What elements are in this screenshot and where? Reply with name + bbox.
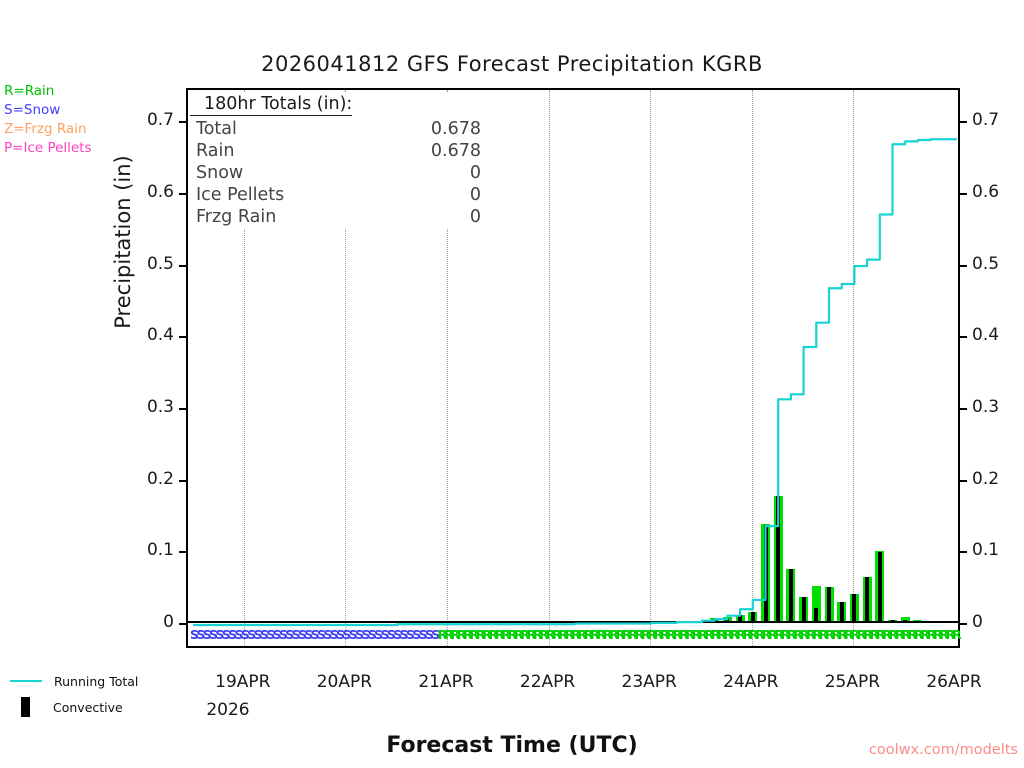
- x-axis-year: 2026: [183, 700, 273, 720]
- y-tick-label-right: 0.3: [972, 397, 1022, 417]
- y-tick-label: 0.6: [130, 182, 174, 202]
- totals-row: Frzg Rain0: [190, 206, 520, 228]
- precip-type-key: R=Rain S=Snow Z=Frzg Rain P=Ice Pellets: [4, 82, 92, 158]
- y-tick-label: 0.1: [130, 540, 174, 560]
- totals-row-name: Ice Pellets: [196, 184, 361, 206]
- y-tick-label-right: 0.7: [972, 110, 1022, 130]
- y-tick-mark-right: [960, 121, 967, 123]
- key-ice-pellets: P=Ice Pellets: [4, 139, 92, 158]
- convective-swatch-icon: [21, 697, 30, 717]
- y-tick-mark: [179, 336, 186, 338]
- y-tick-mark-right: [960, 480, 967, 482]
- key-snow: S=Snow: [4, 101, 92, 120]
- totals-row-value: 0: [361, 162, 481, 184]
- y-tick-mark-right: [960, 193, 967, 195]
- legend-running-total-label: Running Total: [54, 674, 138, 689]
- y-tick-label-right: 0.1: [972, 540, 1022, 560]
- y-tick-label-right: 0: [972, 612, 1022, 632]
- totals-row: Rain0.678: [190, 140, 520, 162]
- watermark: coolwx.com/modelts: [0, 742, 1018, 758]
- totals-row: Snow0: [190, 162, 520, 184]
- y-tick-label: 0.2: [130, 469, 174, 489]
- totals-row-name: Frzg Rain: [196, 206, 361, 228]
- totals-row-value: 0.678: [361, 118, 481, 140]
- y-tick-label: 0.5: [130, 254, 174, 274]
- chart-legend: Running Total Convective: [10, 668, 138, 720]
- totals-row: Total0.678: [190, 118, 520, 140]
- y-tick-mark: [179, 551, 186, 553]
- legend-running-total: Running Total: [10, 668, 138, 694]
- totals-rows: Total0.678Rain0.678Snow0Ice Pellets0Frzg…: [190, 118, 520, 228]
- y-tick-label-right: 0.2: [972, 469, 1022, 489]
- y-tick-mark-right: [960, 623, 967, 625]
- x-tick-label: 25APR: [807, 672, 897, 692]
- y-tick-label: 0.3: [130, 397, 174, 417]
- x-tick-label: 19APR: [198, 672, 288, 692]
- key-rain: R=Rain: [4, 82, 92, 101]
- totals-row-name: Rain: [196, 140, 361, 162]
- y-tick-mark: [179, 623, 186, 625]
- precipitation-forecast-chart: 2026041812 GFS Forecast Precipitation KG…: [0, 0, 1024, 768]
- key-frzg-rain: Z=Frzg Rain: [4, 120, 92, 139]
- x-tick-label: 26APR: [909, 672, 999, 692]
- totals-header: 180hr Totals (in):: [190, 94, 352, 116]
- totals-row-value: 0: [361, 184, 481, 206]
- y-tick-mark-right: [960, 551, 967, 553]
- y-tick-mark: [179, 408, 186, 410]
- totals-summary-box: 180hr Totals (in): Total0.678Rain0.678Sn…: [190, 92, 520, 228]
- totals-row: Ice Pellets0: [190, 184, 520, 206]
- legend-convective-label: Convective: [53, 700, 123, 715]
- legend-convective: Convective: [10, 694, 138, 720]
- y-tick-mark: [179, 121, 186, 123]
- y-tick-label-right: 0.6: [972, 182, 1022, 202]
- y-tick-mark-right: [960, 408, 967, 410]
- x-tick-label: 20APR: [299, 672, 389, 692]
- y-tick-mark-right: [960, 265, 967, 267]
- x-tick-label: 22APR: [503, 672, 593, 692]
- page-title: 2026041812 GFS Forecast Precipitation KG…: [0, 52, 1024, 76]
- x-tick-label: 21APR: [401, 672, 491, 692]
- y-tick-mark: [179, 480, 186, 482]
- y-tick-mark-right: [960, 336, 967, 338]
- x-tick-label: 23APR: [604, 672, 694, 692]
- y-tick-label: 0: [130, 612, 174, 632]
- x-tick-label: 24APR: [706, 672, 796, 692]
- totals-row-value: 0: [361, 206, 481, 228]
- running-total-line-icon: [10, 680, 42, 682]
- y-tick-label-right: 0.5: [972, 254, 1022, 274]
- y-tick-label: 0.7: [130, 110, 174, 130]
- y-tick-label: 0.4: [130, 325, 174, 345]
- totals-row-name: Snow: [196, 162, 361, 184]
- y-tick-mark: [179, 193, 186, 195]
- y-tick-label-right: 0.4: [972, 325, 1022, 345]
- y-tick-mark: [179, 265, 186, 267]
- totals-row-value: 0.678: [361, 140, 481, 162]
- totals-row-name: Total: [196, 118, 361, 140]
